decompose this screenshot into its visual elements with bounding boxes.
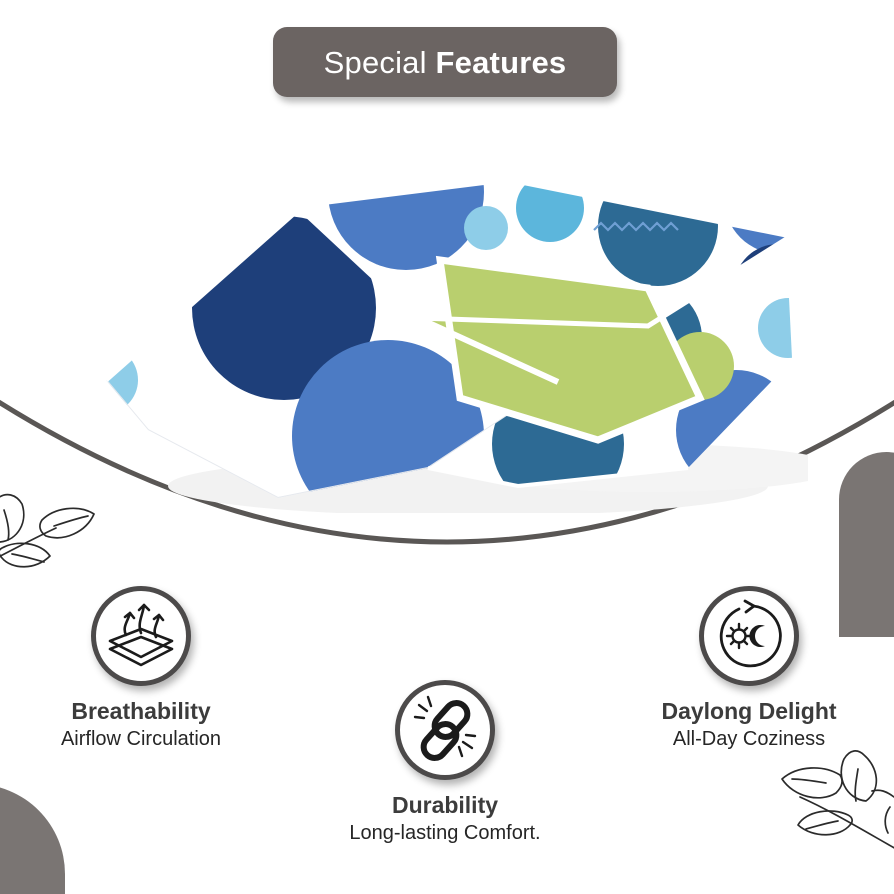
product-photo [88, 168, 808, 513]
feature-subtitle: Airflow Circulation [61, 728, 221, 751]
chain-link-icon [395, 680, 495, 780]
page-title: Special Features [324, 47, 567, 78]
feature-subtitle: Long-lasting Comfort. [349, 822, 540, 845]
page-title-bold: Features [436, 45, 567, 80]
page-title-light: Special [324, 45, 436, 80]
feature-daylong-delight: Daylong Delight All-Day Coziness [648, 586, 850, 751]
feature-durability: Durability Long-lasting Comfort. [333, 680, 557, 845]
feature-title: Daylong Delight [661, 699, 836, 724]
airflow-layers-icon [91, 586, 191, 686]
feature-title: Breathability [71, 699, 210, 724]
feature-breathability: Breathability Airflow Circulation [32, 586, 250, 751]
sun-moon-cycle-icon [699, 586, 799, 686]
feature-title: Durability [392, 793, 498, 818]
page-title-badge: Special Features [273, 27, 617, 97]
feature-subtitle: All-Day Coziness [673, 728, 825, 751]
corner-block-bottom-left [0, 784, 65, 894]
folded-sheets-illustration [88, 168, 808, 513]
leaf-sprig-icon-bottom-right [744, 741, 894, 866]
infographic-page: Special Features [0, 0, 894, 894]
